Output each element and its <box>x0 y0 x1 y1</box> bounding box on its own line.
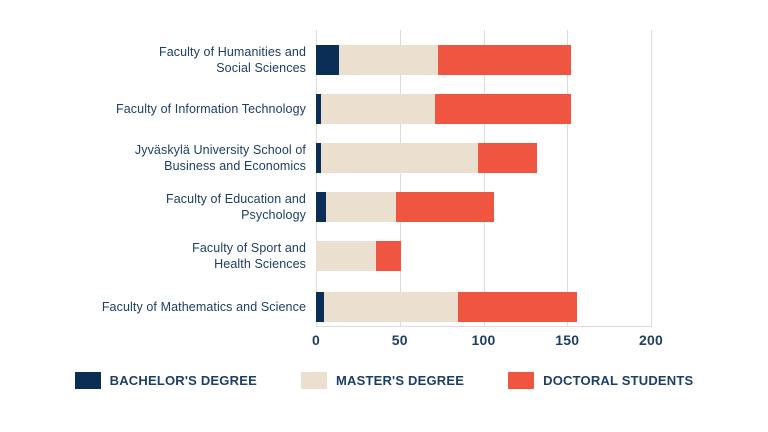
x-tick-label-200: 200 <box>639 332 663 348</box>
x-tick-label-150: 150 <box>555 332 579 348</box>
x-axis-line <box>316 326 652 327</box>
category-label-line: Faculty of Information Technology <box>0 101 306 117</box>
legend-item[interactable]: BACHELOR'S DEGREE <box>75 372 257 389</box>
bar-segment-doctoral[interactable] <box>396 192 493 222</box>
chart-legend: BACHELOR'S DEGREEMASTER'S DEGREEDOCTORAL… <box>0 372 768 389</box>
legend-item[interactable]: DOCTORAL STUDENTS <box>508 372 693 389</box>
category-label-line: Jyväskylä University School of <box>0 142 306 158</box>
category-label-line: Health Sciences <box>0 256 306 272</box>
bar-segment-master[interactable] <box>321 143 478 173</box>
category-label: Faculty of Mathematics and Science <box>0 299 306 315</box>
category-label-line: Psychology <box>0 207 306 223</box>
category-label-line: Faculty of Mathematics and Science <box>0 299 306 315</box>
category-label: Faculty of Education andPsychology <box>0 191 306 223</box>
category-label: Faculty of Humanities andSocial Sciences <box>0 44 306 76</box>
category-label-line: Faculty of Education and <box>0 191 306 207</box>
legend-item[interactable]: MASTER'S DEGREE <box>301 372 464 389</box>
legend-label: MASTER'S DEGREE <box>336 373 464 388</box>
bar-segment-master[interactable] <box>339 45 438 75</box>
category-label-line: Social Sciences <box>0 60 306 76</box>
legend-swatch-icon <box>508 372 534 389</box>
bar-row[interactable] <box>316 143 537 173</box>
category-label-line: Business and Economics <box>0 158 306 174</box>
category-axis-labels: Faculty of Humanities andSocial Sciences… <box>0 30 306 326</box>
bar-row[interactable] <box>316 292 577 322</box>
category-label-line: Faculty of Humanities and <box>0 44 306 60</box>
category-label: Faculty of Sport andHealth Sciences <box>0 240 306 272</box>
stacked-bar-chart: Faculty of Humanities andSocial Sciences… <box>0 0 768 432</box>
bar-segment-doctoral[interactable] <box>438 45 570 75</box>
bar-row[interactable] <box>316 94 571 124</box>
bar-segment-bachelor[interactable] <box>316 45 339 75</box>
gridline-200 <box>651 30 652 326</box>
legend-swatch-icon <box>301 372 327 389</box>
bar-segment-bachelor[interactable] <box>316 192 326 222</box>
legend-label: BACHELOR'S DEGREE <box>110 373 257 388</box>
x-axis-tick-labels: 050100150200 <box>0 332 768 352</box>
bar-segment-doctoral[interactable] <box>458 292 577 322</box>
bar-segment-doctoral[interactable] <box>376 241 401 271</box>
x-tick-label-50: 50 <box>392 332 408 348</box>
category-label-line: Faculty of Sport and <box>0 240 306 256</box>
bar-segment-master[interactable] <box>316 241 376 271</box>
bar-segment-doctoral[interactable] <box>478 143 537 173</box>
bar-segment-bachelor[interactable] <box>316 292 324 322</box>
bar-row[interactable] <box>316 241 401 271</box>
plot-area <box>316 30 651 326</box>
bar-segment-master[interactable] <box>321 94 435 124</box>
bar-row[interactable] <box>316 192 494 222</box>
bar-segment-master[interactable] <box>324 292 458 322</box>
legend-label: DOCTORAL STUDENTS <box>543 373 693 388</box>
legend-swatch-icon <box>75 372 101 389</box>
bar-segment-doctoral[interactable] <box>435 94 571 124</box>
category-label: Jyväskylä University School ofBusiness a… <box>0 142 306 174</box>
x-tick-label-0: 0 <box>312 332 320 348</box>
category-label: Faculty of Information Technology <box>0 101 306 117</box>
x-tick-label-100: 100 <box>472 332 496 348</box>
bar-rows <box>316 30 651 326</box>
bar-segment-master[interactable] <box>326 192 396 222</box>
bar-row[interactable] <box>316 45 571 75</box>
